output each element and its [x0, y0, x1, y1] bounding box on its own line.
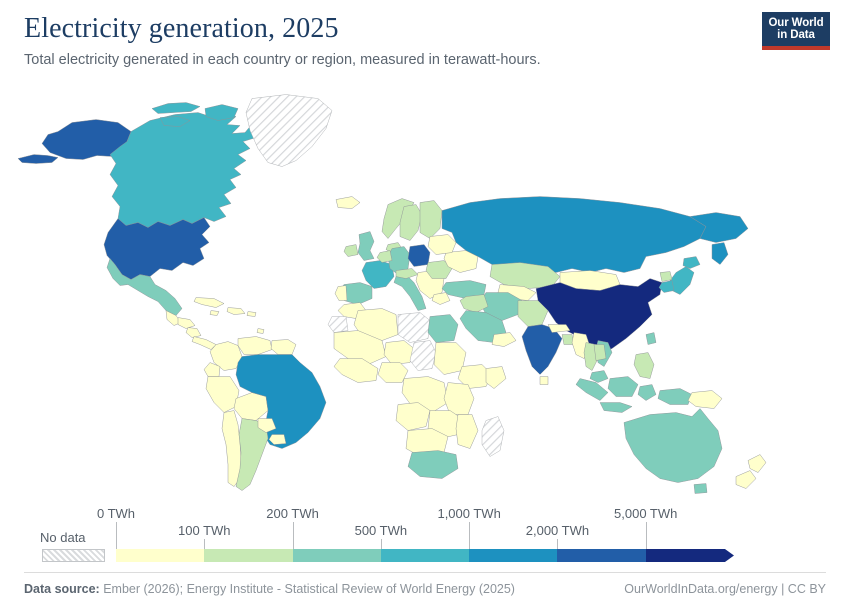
country-madagascar-no-data[interactable] [482, 416, 504, 456]
country-indonesia-sumatra[interactable] [576, 378, 608, 400]
our-world-in-data-logo[interactable]: Our World in Data [762, 12, 830, 50]
world-choropleth-map[interactable] [0, 69, 850, 504]
legend-tick-0 [116, 522, 117, 549]
country-iceland[interactable] [336, 196, 360, 208]
page-title: Electricity generation, 2025 [24, 14, 826, 45]
footer-source-label: Data source: [24, 582, 100, 596]
country-united-states[interactable] [104, 217, 210, 279]
country-libya-no-data[interactable] [398, 312, 430, 342]
country-indonesia-sulawesi[interactable] [638, 384, 656, 400]
country-belarus-baltics[interactable] [428, 234, 456, 254]
country-jamaica[interactable] [210, 310, 219, 315]
country-costa-rica-panama[interactable] [192, 336, 216, 349]
legend-tick-5 [557, 539, 558, 549]
legend-tick-label-1: 100 TWh [178, 523, 231, 538]
country-philippines[interactable] [634, 352, 654, 378]
legend-tick-2 [293, 522, 294, 549]
chart-subtitle: Total electricity generated in each coun… [24, 51, 826, 69]
country-sweden[interactable] [400, 204, 422, 240]
legend-no-data-label: No data [40, 530, 86, 545]
country-north-korea[interactable] [660, 271, 672, 281]
country-honduras[interactable] [178, 317, 195, 328]
country-cuba[interactable] [194, 297, 224, 307]
country-indonesia-borneo[interactable] [608, 376, 638, 396]
legend-inner: No data 0 TWh100 TWh200 TWh500 TWh1,000 … [116, 504, 734, 562]
country-trinidad[interactable] [257, 328, 264, 333]
legend-bin-6[interactable] [646, 549, 734, 562]
country-new-zealand-south[interactable] [736, 470, 756, 488]
country-sri-lanka[interactable] [540, 376, 548, 384]
country-portugal[interactable] [335, 285, 347, 300]
country-nepal-bhutan[interactable] [548, 324, 570, 332]
legend-bin-4[interactable] [469, 549, 557, 562]
map-legend: No data 0 TWh100 TWh200 TWh500 TWh1,000 … [24, 504, 826, 572]
country-niger[interactable] [384, 340, 414, 364]
legend-tick-label-4: 1,000 TWh [437, 506, 500, 521]
country-puerto-rico[interactable] [247, 311, 256, 316]
legend-bin-3[interactable] [381, 549, 469, 562]
country-canada-arctic-islands[interactable] [152, 102, 200, 113]
country-greenland-no-data[interactable] [246, 94, 332, 166]
country-laos-cambodia[interactable] [594, 344, 606, 360]
country-nigeria[interactable] [378, 362, 408, 382]
country-western-sahara-no-data[interactable] [328, 316, 348, 332]
legend-color-bar[interactable] [116, 549, 734, 562]
legend-tick-label-5: 2,000 TWh [526, 523, 589, 538]
country-egypt[interactable] [428, 314, 458, 342]
country-nicaragua[interactable] [186, 327, 201, 337]
country-greece[interactable] [432, 292, 450, 304]
legend-bin-2[interactable] [293, 549, 381, 562]
country-poland[interactable] [408, 244, 430, 266]
chart-header: Electricity generation, 2025 Total elect… [0, 0, 850, 69]
country-alaska-aleutians[interactable] [18, 154, 58, 163]
legend-tick-label-3: 500 TWh [355, 523, 408, 538]
country-chile[interactable] [222, 410, 241, 486]
country-yemen-oman[interactable] [492, 332, 516, 346]
country-tasmania[interactable] [694, 483, 707, 493]
country-mozambique[interactable] [456, 414, 478, 448]
chart-footer: Data source: Ember (2026); Energy Instit… [24, 572, 826, 600]
country-indonesia-java[interactable] [600, 402, 632, 412]
legend-tick-label-6: 5,000 TWh [614, 506, 677, 521]
logo-line-1: Our World [768, 17, 824, 29]
country-finland[interactable] [420, 200, 442, 238]
country-guyanas[interactable] [271, 339, 296, 354]
country-venezuela[interactable] [238, 336, 272, 354]
country-switzerland-austria[interactable] [396, 268, 418, 278]
legend-no-data-swatch[interactable] [42, 549, 105, 562]
country-hispaniola[interactable] [227, 307, 245, 314]
country-peru[interactable] [206, 376, 239, 412]
country-malaysia[interactable] [590, 370, 608, 382]
legend-tick-label-2: 200 TWh [266, 506, 319, 521]
logo-line-2: in Data [768, 29, 824, 41]
footer-source: Data source: Ember (2026); Energy Instit… [24, 582, 515, 596]
legend-bin-1[interactable] [204, 549, 292, 562]
country-canada[interactable] [110, 112, 262, 227]
legend-bin-0[interactable] [116, 549, 204, 562]
legend-tick-3 [381, 539, 382, 549]
country-japan-hokkaido[interactable] [683, 256, 700, 268]
legend-tick-label-0: 0 TWh [97, 506, 135, 521]
country-new-zealand[interactable] [748, 454, 766, 472]
country-united-kingdom[interactable] [358, 231, 374, 260]
country-bolivia[interactable] [234, 392, 268, 420]
country-somalia[interactable] [486, 366, 506, 388]
country-ireland[interactable] [344, 244, 358, 256]
map-countries [18, 94, 766, 493]
country-south-africa[interactable] [408, 450, 458, 478]
legend-tick-4 [469, 522, 470, 549]
footer-source-text: Ember (2026); Energy Institute - Statist… [103, 582, 515, 596]
map-svg [0, 69, 850, 504]
country-papua-new-guinea[interactable] [688, 390, 722, 408]
legend-tick-6 [646, 522, 647, 549]
legend-tick-1 [204, 539, 205, 549]
country-kamchatka[interactable] [712, 242, 728, 264]
country-russia[interactable] [442, 196, 706, 272]
legend-bin-5[interactable] [557, 549, 645, 562]
owid-grapher-chart: Electricity generation, 2025 Total elect… [0, 0, 850, 600]
country-chad-no-data[interactable] [410, 340, 436, 370]
country-taiwan[interactable] [646, 332, 656, 344]
country-indonesia-papua[interactable] [658, 388, 692, 404]
country-australia[interactable] [624, 408, 722, 482]
footer-license[interactable]: OurWorldInData.org/energy | CC BY [624, 582, 826, 596]
